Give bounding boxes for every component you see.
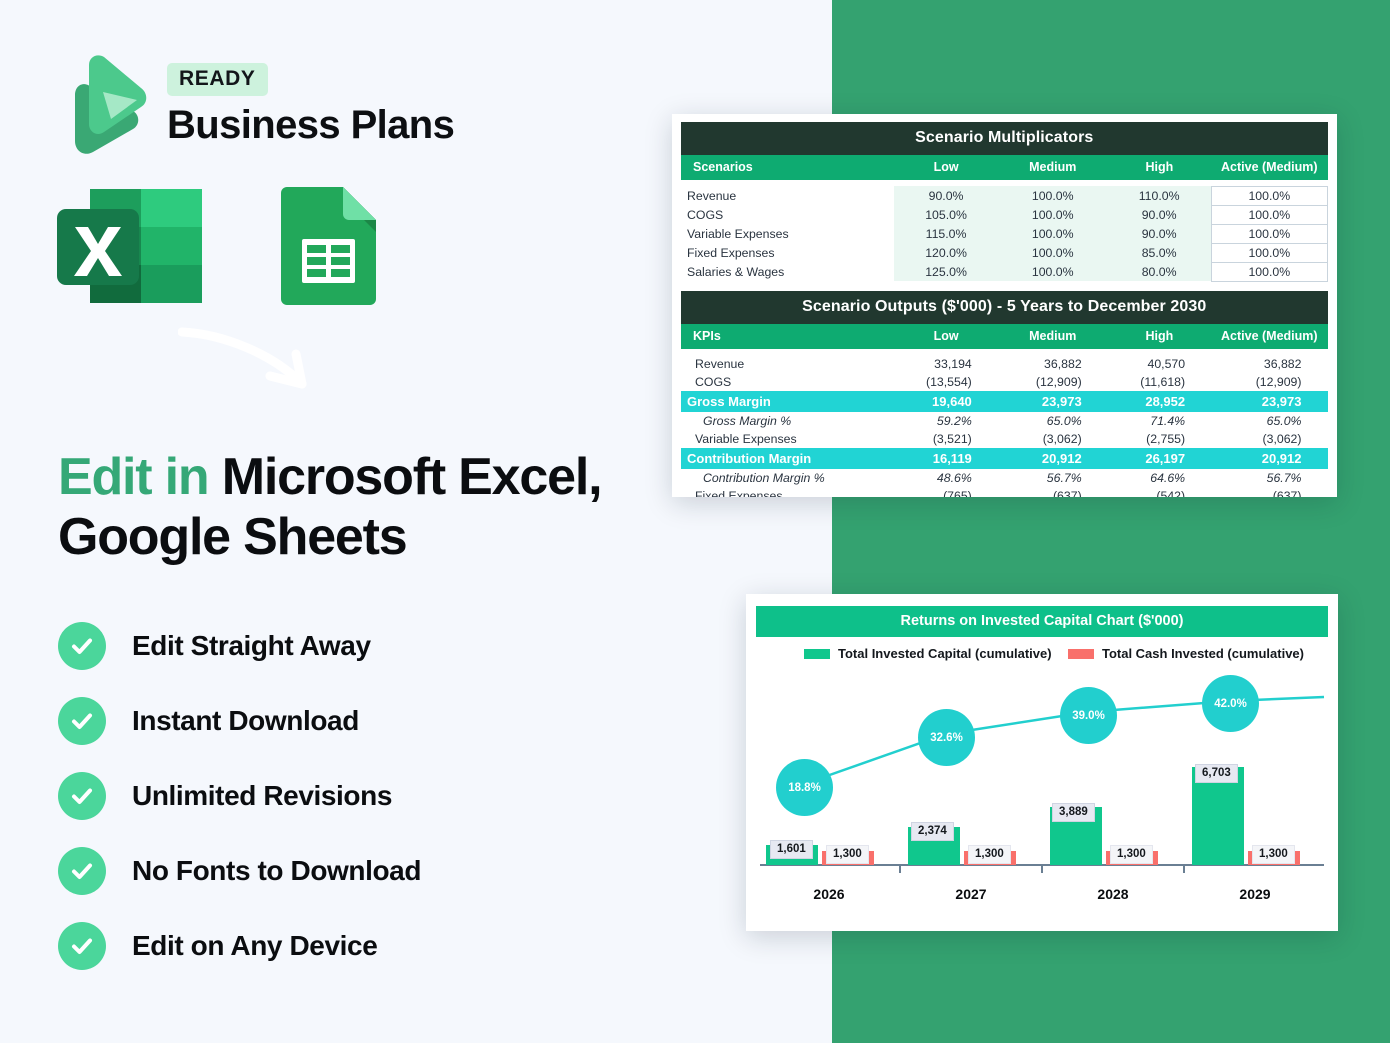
list-item-label: No Fonts to Download xyxy=(132,855,421,887)
column-header: Low xyxy=(894,324,997,349)
bar-value-red-2026: 1,300 xyxy=(826,845,869,864)
cell-high: 64.6% xyxy=(1108,469,1211,487)
cell-active[interactable]: 100.0% xyxy=(1211,205,1327,224)
cell-medium: 100.0% xyxy=(998,224,1108,243)
check-icon xyxy=(58,622,106,670)
list-item-label: Unlimited Revisions xyxy=(132,780,392,812)
cell-high: 80.0% xyxy=(1108,262,1211,281)
cell-medium: 20,912 xyxy=(998,448,1108,469)
column-header: Active (Medium) xyxy=(1211,155,1327,180)
bar-value-green-2026: 1,601 xyxy=(770,840,813,859)
page-title: Edit in Microsoft Excel, Google Sheets xyxy=(58,447,718,568)
bar-value-green-2029: 6,703 xyxy=(1195,764,1238,783)
check-icon xyxy=(58,847,106,895)
data-bubble-2028: 39.0% xyxy=(1060,687,1117,744)
cell-low: 90.0% xyxy=(894,186,997,205)
chart-title: Returns on Invested Capital Chart ($'000… xyxy=(756,606,1328,637)
row-label: Salaries & Wages xyxy=(681,262,894,281)
list-item-label: Edit Straight Away xyxy=(132,630,371,662)
cell-medium: 100.0% xyxy=(998,243,1108,262)
curved-arrow-icon xyxy=(178,326,318,401)
app-icons-row xyxy=(57,187,376,310)
cell-low: 120.0% xyxy=(894,243,997,262)
table-row: Salaries & Wages 125.0% 100.0% 80.0% 100… xyxy=(681,262,1328,281)
legend-item: Total Invested Capital (cumulative) xyxy=(804,646,1052,661)
google-sheets-icon xyxy=(281,187,376,310)
check-icon xyxy=(58,772,106,820)
cell-medium: (3,062) xyxy=(998,430,1108,448)
x-tick-label: 2029 xyxy=(1184,886,1326,902)
cell-low: 115.0% xyxy=(894,224,997,243)
bar-value-green-2028: 3,889 xyxy=(1052,803,1095,822)
list-item: Instant Download xyxy=(58,697,421,745)
brand-title: Business Plans xyxy=(167,103,454,147)
cell-active: (637) xyxy=(1211,487,1327,497)
chart-legend: Total Invested Capital (cumulative) Tota… xyxy=(746,637,1338,661)
legend-label: Total Invested Capital (cumulative) xyxy=(838,646,1052,661)
table-row: Fixed Expenses 120.0% 100.0% 85.0% 100.0… xyxy=(681,243,1328,262)
table-row: COGS (13,554) (12,909) (11,618) (12,909) xyxy=(681,373,1328,391)
list-item: Unlimited Revisions xyxy=(58,772,421,820)
column-header: Active (Medium) xyxy=(1211,324,1327,349)
cell-medium: (12,909) xyxy=(998,373,1108,391)
feature-checklist: Edit Straight Away Instant Download Unli… xyxy=(58,622,421,970)
column-header: Medium xyxy=(998,324,1108,349)
cell-high: 110.0% xyxy=(1108,186,1211,205)
brand-lockup: READY Business Plans xyxy=(59,55,454,155)
table-header-row: KPIs Low Medium High Active (Medium) xyxy=(681,324,1328,349)
table-row: Gross Margin % 59.2% 65.0% 71.4% 65.0% xyxy=(681,412,1328,430)
x-tick-label: 2027 xyxy=(900,886,1042,902)
column-header: High xyxy=(1108,155,1211,180)
bar-value-red-2029: 1,300 xyxy=(1252,845,1295,864)
section-title-row: Scenario Outputs ($'000) - 5 Years to De… xyxy=(681,291,1328,324)
cell-low: 33,194 xyxy=(894,355,997,373)
check-icon xyxy=(58,697,106,745)
cell-active[interactable]: 100.0% xyxy=(1211,224,1327,243)
cell-medium: 100.0% xyxy=(998,186,1108,205)
bar-value-red-2027: 1,300 xyxy=(968,845,1011,864)
cell-active[interactable]: 100.0% xyxy=(1211,262,1327,281)
cell-low: (13,554) xyxy=(894,373,997,391)
row-label: COGS xyxy=(681,373,894,391)
check-icon xyxy=(58,922,106,970)
spreadsheet: Scenario Multiplicators Scenarios Low Me… xyxy=(672,114,1337,497)
roic-chart-card: Returns on Invested Capital Chart ($'000… xyxy=(746,594,1338,931)
column-header: High xyxy=(1108,324,1211,349)
cell-active: 56.7% xyxy=(1211,469,1327,487)
row-label: Fixed Expenses xyxy=(681,243,894,262)
row-label: Gross Margin % xyxy=(681,412,894,430)
legend-swatch-red xyxy=(1068,649,1094,659)
table-row-highlight: Contribution Margin 16,119 20,912 26,197… xyxy=(681,448,1328,469)
cell-medium: 56.7% xyxy=(998,469,1108,487)
chart-x-axis-labels: 2026 2027 2028 2029 xyxy=(758,886,1326,902)
table-row: Fixed Expenses (765) (637) (542) (637) xyxy=(681,487,1328,497)
cell-high: 90.0% xyxy=(1108,224,1211,243)
row-label: Variable Expenses xyxy=(681,430,894,448)
cell-high: (542) xyxy=(1108,487,1211,497)
cell-high: 85.0% xyxy=(1108,243,1211,262)
cell-high: 40,570 xyxy=(1108,355,1211,373)
column-header: KPIs xyxy=(681,324,894,349)
cell-medium: 65.0% xyxy=(998,412,1108,430)
cell-low: 125.0% xyxy=(894,262,997,281)
list-item: Edit on Any Device xyxy=(58,922,421,970)
column-header: Scenarios xyxy=(681,155,894,180)
row-label: Gross Margin xyxy=(681,391,894,412)
row-label: Contribution Margin % xyxy=(681,469,894,487)
data-bubble-2029: 42.0% xyxy=(1202,675,1259,732)
list-item-label: Edit on Any Device xyxy=(132,930,377,962)
cell-medium: 36,882 xyxy=(998,355,1108,373)
section-title-row: Scenario Multiplicators xyxy=(681,122,1328,155)
cell-low: 16,119 xyxy=(894,448,997,469)
x-tick-label: 2028 xyxy=(1042,886,1184,902)
cell-active[interactable]: 100.0% xyxy=(1211,243,1327,262)
microsoft-excel-icon xyxy=(57,187,202,310)
row-label: Revenue xyxy=(681,355,894,373)
poster-root: READY Business Plans xyxy=(0,0,1390,1043)
legend-label: Total Cash Invested (cumulative) xyxy=(1102,646,1304,661)
column-header: Medium xyxy=(998,155,1108,180)
cell-medium: 23,973 xyxy=(998,391,1108,412)
cell-high: (11,618) xyxy=(1108,373,1211,391)
cell-low: 19,640 xyxy=(894,391,997,412)
section-title: Scenario Outputs ($'000) - 5 Years to De… xyxy=(681,291,1328,324)
column-header: Low xyxy=(894,155,997,180)
table-row: Variable Expenses (3,521) (3,062) (2,755… xyxy=(681,430,1328,448)
scenario-table-card: Scenario Multiplicators Scenarios Low Me… xyxy=(672,114,1337,497)
cell-active: 36,882 xyxy=(1211,355,1327,373)
table-row: Contribution Margin % 48.6% 56.7% 64.6% … xyxy=(681,469,1328,487)
cell-high: 26,197 xyxy=(1108,448,1211,469)
x-tick-label: 2026 xyxy=(758,886,900,902)
table-row: Revenue 90.0% 100.0% 110.0% 100.0% xyxy=(681,186,1328,205)
list-item: No Fonts to Download xyxy=(58,847,421,895)
cell-active: (12,909) xyxy=(1211,373,1327,391)
cell-high: 90.0% xyxy=(1108,205,1211,224)
chart-plot-area: 18.8% 32.6% 39.0% 42.0% 1,601 2,374 3,88… xyxy=(758,667,1326,895)
cell-active[interactable]: 100.0% xyxy=(1211,186,1327,205)
data-bubble-2026: 18.8% xyxy=(776,759,833,816)
cell-medium: 100.0% xyxy=(998,205,1108,224)
data-bubble-2027: 32.6% xyxy=(918,709,975,766)
legend-item: Total Cash Invested (cumulative) xyxy=(1068,646,1304,661)
bar-value-green-2027: 2,374 xyxy=(911,822,954,841)
table-row-highlight: Gross Margin 19,640 23,973 28,952 23,973 xyxy=(681,391,1328,412)
cell-low: 48.6% xyxy=(894,469,997,487)
cell-active: (3,062) xyxy=(1211,430,1327,448)
cell-active: 23,973 xyxy=(1211,391,1327,412)
page-title-accent: Edit in xyxy=(58,448,208,506)
play-logo-icon xyxy=(59,55,147,155)
legend-swatch-green xyxy=(804,649,830,659)
cell-high: (2,755) xyxy=(1108,430,1211,448)
row-label: Contribution Margin xyxy=(681,448,894,469)
bar-value-red-2028: 1,300 xyxy=(1110,845,1153,864)
cell-low: (3,521) xyxy=(894,430,997,448)
row-label: Variable Expenses xyxy=(681,224,894,243)
section-title: Scenario Multiplicators xyxy=(681,122,1328,155)
cell-low: (765) xyxy=(894,487,997,497)
cell-medium: 100.0% xyxy=(998,262,1108,281)
row-label: Fixed Expenses xyxy=(681,487,894,497)
cell-active: 20,912 xyxy=(1211,448,1327,469)
table-header-row: Scenarios Low Medium High Active (Medium… xyxy=(681,155,1328,180)
cell-low: 105.0% xyxy=(894,205,997,224)
list-item-label: Instant Download xyxy=(132,705,359,737)
cell-high: 71.4% xyxy=(1108,412,1211,430)
row-label: COGS xyxy=(681,205,894,224)
list-item: Edit Straight Away xyxy=(58,622,421,670)
cell-active: 65.0% xyxy=(1211,412,1327,430)
table-row: Revenue 33,194 36,882 40,570 36,882 xyxy=(681,355,1328,373)
cell-low: 59.2% xyxy=(894,412,997,430)
table-row: Variable Expenses 115.0% 100.0% 90.0% 10… xyxy=(681,224,1328,243)
cell-high: 28,952 xyxy=(1108,391,1211,412)
row-label: Revenue xyxy=(681,186,894,205)
table-row: COGS 105.0% 100.0% 90.0% 100.0% xyxy=(681,205,1328,224)
cell-medium: (637) xyxy=(998,487,1108,497)
ready-badge: READY xyxy=(167,63,268,96)
